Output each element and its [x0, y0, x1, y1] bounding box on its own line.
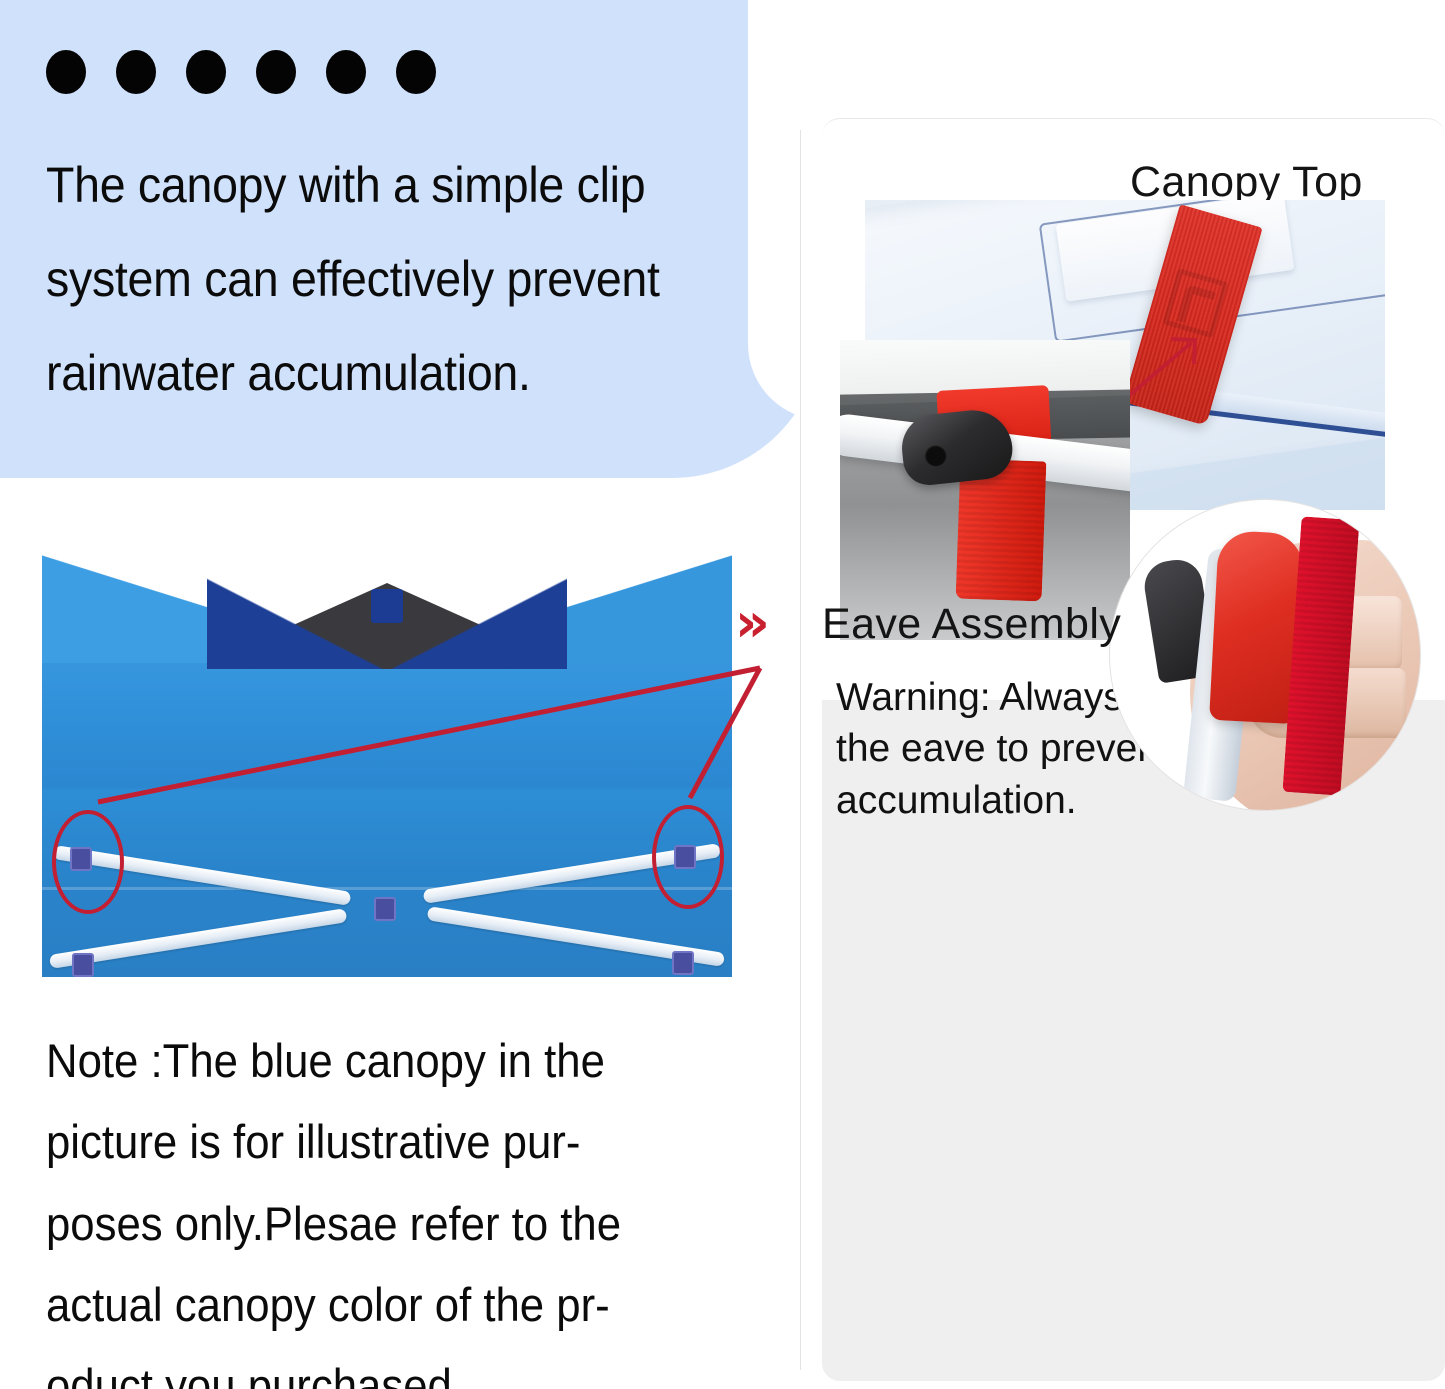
canopy-ridge-vent [207, 575, 567, 669]
buckle-attachment-photo [840, 340, 1130, 640]
annotation-circle-left [52, 810, 124, 914]
frame-clip-joint [672, 951, 694, 975]
strap-hook-emboss [1162, 268, 1228, 338]
canopy-ridge-trim-left [207, 575, 392, 669]
canopy-fabric [42, 625, 732, 977]
bullet-dot-icon [186, 50, 226, 94]
bullet-dot-icon [396, 50, 436, 94]
note-text: Note :The blue canopy in the picture is … [46, 1020, 697, 1389]
bullet-dots-row [46, 50, 436, 94]
right-column: Canopy Top Eave Assembly [800, 110, 1445, 1389]
annotation-circle-right [652, 805, 724, 909]
frame-clip-joint [72, 953, 94, 977]
chevron-right-double-icon: » [735, 596, 764, 650]
canopy-fabric-seam [42, 887, 732, 890]
eave-assembly-label: Eave Assembly [822, 600, 1121, 649]
canopy-interior-photo [42, 555, 732, 977]
product-infographic: The canopy with a simple clip system can… [0, 0, 1445, 1389]
eave-assembly-inset-photo [1110, 500, 1420, 810]
canopy-ridge-trim-right [382, 575, 567, 669]
canopy-ridge-cap [371, 589, 403, 623]
column-divider [800, 130, 801, 1370]
bullet-dot-icon [256, 50, 296, 94]
bullet-dot-icon [46, 50, 86, 94]
headline-text: The canopy with a simple clip system can… [46, 138, 734, 420]
bullet-dot-icon [326, 50, 366, 94]
frame-clip-joint [374, 897, 396, 921]
bullet-dot-icon [116, 50, 156, 94]
buckle-pivot-hole [924, 443, 948, 467]
